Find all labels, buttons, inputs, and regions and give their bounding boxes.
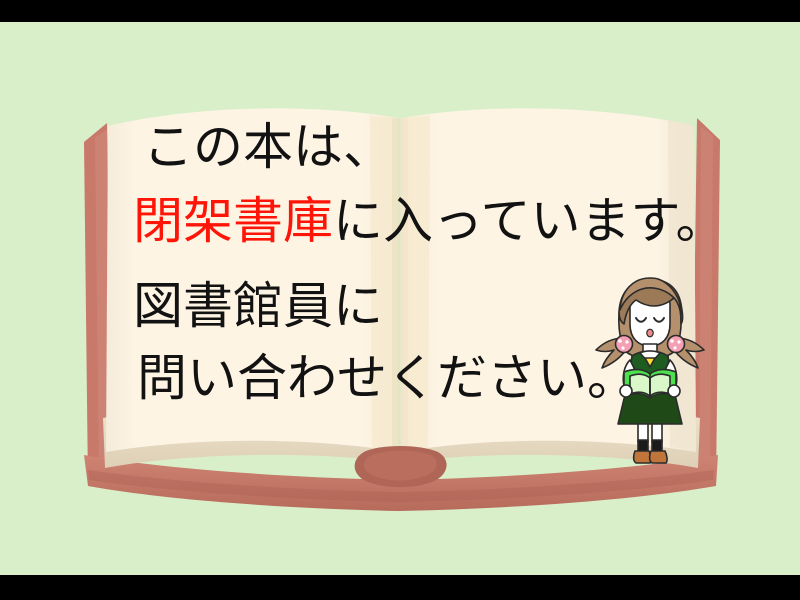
shoe-right <box>650 451 667 463</box>
mouth <box>647 329 653 337</box>
hand-right <box>668 385 680 397</box>
book-gutter <box>392 118 408 452</box>
hair-tie-right <box>668 336 685 353</box>
girl-reading-illustration <box>588 272 712 467</box>
hair-tie-left <box>616 336 633 353</box>
scene-canvas: この本は、 閉架書庫に入っています。 図書館員に 問い合わせください。 <box>0 0 800 600</box>
book-spine <box>355 446 447 487</box>
shoe-left <box>634 451 651 463</box>
letterbox-bottom <box>0 575 800 600</box>
letterbox-top <box>0 0 800 22</box>
book-page-left <box>106 108 398 452</box>
hand-left <box>620 385 632 397</box>
